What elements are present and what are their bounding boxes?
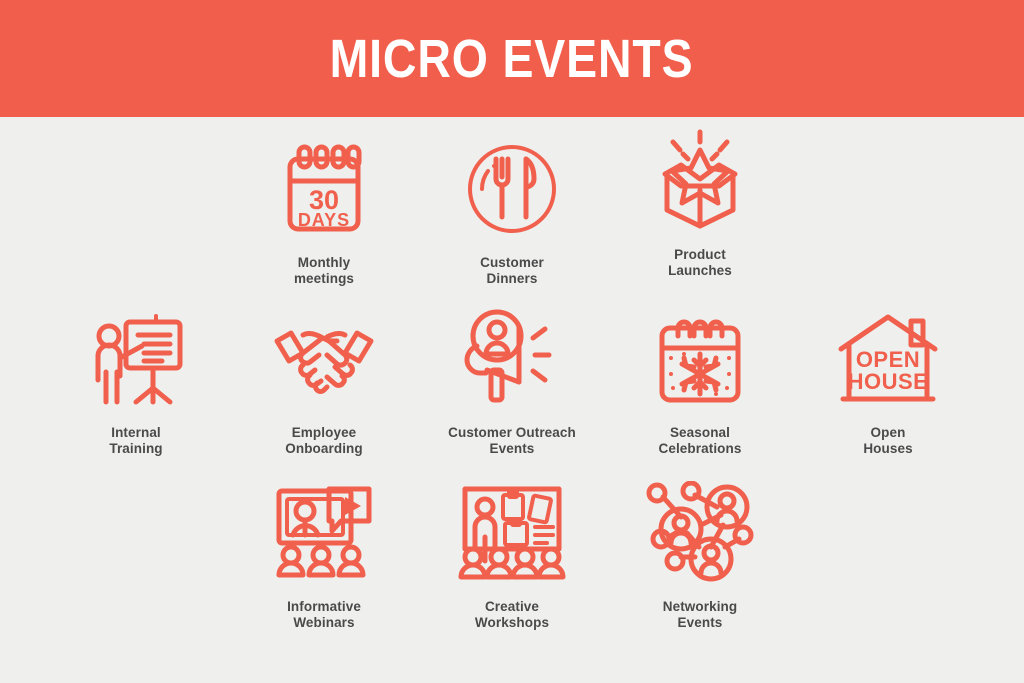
open-house-icon-line2: HOUSE bbox=[848, 369, 929, 394]
open-house-icon: OPEN HOUSE bbox=[835, 305, 941, 415]
calendar-icon-unit: DAYS bbox=[298, 210, 350, 230]
item-seasonal-celebrations[interactable]: Seasonal Celebrations bbox=[606, 305, 794, 458]
item-internal-training[interactable]: Internal Training bbox=[42, 305, 230, 458]
item-employee-onboarding[interactable]: Employee Onboarding bbox=[230, 305, 418, 458]
item-label: Product Launches bbox=[668, 247, 732, 280]
icon-row-3: Informative Webinars bbox=[0, 477, 1024, 632]
icon-row-1: 30 DAYS Monthly meetings bbox=[0, 133, 1024, 288]
item-label: Open Houses bbox=[863, 425, 912, 458]
plate-cutlery-icon bbox=[460, 133, 564, 245]
row-1-spacer-right bbox=[794, 133, 982, 288]
item-customer-dinners[interactable]: Customer Dinners bbox=[418, 133, 606, 288]
page-title: MICRO EVENTS bbox=[330, 32, 694, 86]
item-label: Employee Onboarding bbox=[285, 425, 363, 458]
item-open-houses[interactable]: OPEN HOUSE Open Houses bbox=[794, 305, 982, 458]
icon-row-2: Internal Training bbox=[0, 305, 1024, 458]
infographic-page: MICRO EVENTS 30 DAYS bbox=[0, 0, 1024, 683]
network-nodes-icon bbox=[645, 477, 755, 589]
workshop-board-icon bbox=[457, 477, 567, 589]
presenter-flipchart-icon bbox=[86, 305, 186, 415]
calendar-30-days-icon: 30 DAYS bbox=[272, 133, 376, 245]
handshake-icon bbox=[269, 305, 379, 415]
calendar-snowflake-icon bbox=[648, 305, 752, 415]
webinar-screen-icon bbox=[269, 477, 379, 589]
row-1-spacer-left bbox=[42, 133, 230, 288]
item-customer-outreach-events[interactable]: Customer Outreach Events bbox=[418, 305, 606, 458]
icon-grid: 30 DAYS Monthly meetings bbox=[0, 117, 1024, 683]
item-networking-events[interactable]: Networking Events bbox=[606, 477, 794, 632]
item-creative-workshops[interactable]: Creative Workshops bbox=[418, 477, 606, 632]
item-label: Creative Workshops bbox=[475, 599, 549, 632]
item-informative-webinars[interactable]: Informative Webinars bbox=[230, 477, 418, 632]
page-header: MICRO EVENTS bbox=[0, 0, 1024, 117]
item-label: Seasonal Celebrations bbox=[659, 425, 742, 458]
item-monthly-meetings[interactable]: 30 DAYS Monthly meetings bbox=[230, 133, 418, 288]
item-product-launches[interactable]: Product Launches bbox=[606, 133, 794, 288]
item-label: Customer Dinners bbox=[480, 255, 544, 288]
item-label: Monthly meetings bbox=[294, 255, 354, 288]
item-label: Networking Events bbox=[663, 599, 738, 632]
item-label: Informative Webinars bbox=[287, 599, 361, 632]
row-3-spacer-left bbox=[42, 477, 230, 632]
row-3-spacer-right bbox=[794, 477, 982, 632]
item-label: Customer Outreach Events bbox=[448, 425, 576, 458]
megaphone-person-icon bbox=[457, 305, 567, 415]
item-label: Internal Training bbox=[109, 425, 162, 458]
open-box-star-icon bbox=[645, 125, 755, 237]
